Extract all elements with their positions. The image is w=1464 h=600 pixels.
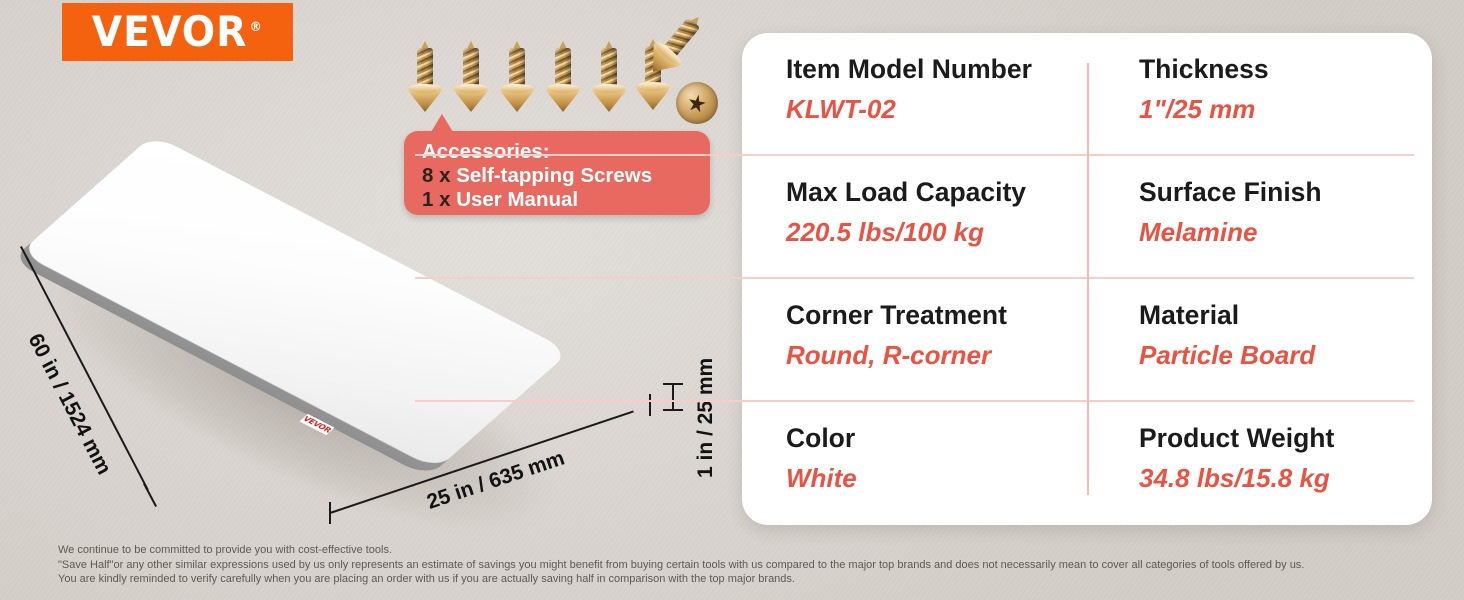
spec-label: Product Weight: [1139, 423, 1402, 454]
logo-wordmark: VEVOR®: [92, 11, 263, 53]
registered-trademark-icon: ®: [250, 20, 263, 35]
spec-label: Material: [1139, 300, 1402, 331]
spec-label: Corner Treatment: [786, 300, 1057, 331]
spec-cell-material: Material Particle Board: [1087, 279, 1432, 402]
dimension-label-thickness: 1 in / 25 mm: [694, 358, 718, 478]
spec-value: KLWT-02: [786, 94, 1057, 124]
infographic-canvas: VEVOR® Accessories: 8 x Self-tapping Scr…: [0, 0, 1464, 600]
screw-icon: [454, 48, 488, 120]
dimension-cap-width-right: [649, 394, 651, 416]
spec-label: Thickness: [1139, 54, 1402, 85]
spec-cell-surface-finish: Surface Finish Melamine: [1087, 156, 1432, 279]
dimension-cap-width-left: [329, 502, 331, 524]
spec-value: White: [786, 463, 1057, 493]
spec-value: 34.8 lbs/15.8 kg: [1139, 463, 1402, 493]
disclaimer-line-3: You are kindly reminded to verify carefu…: [58, 572, 1423, 587]
specification-table: Item Model Number KLWT-02 Thickness 1"/2…: [742, 33, 1432, 525]
screws-illustration: [408, 20, 708, 140]
footer-disclaimer: We continue to be committed to provide y…: [58, 543, 1423, 587]
callout-pointer-icon: [431, 114, 453, 132]
spec-value: Round, R-corner: [786, 340, 1057, 370]
spec-label: Surface Finish: [1139, 177, 1402, 208]
spec-cell-product-weight: Product Weight 34.8 lbs/15.8 kg: [1087, 402, 1432, 525]
spec-value: 1"/25 mm: [1139, 94, 1402, 124]
spec-cell-corner-treatment: Corner Treatment Round, R-corner: [742, 279, 1087, 402]
vevor-logo: VEVOR®: [62, 3, 293, 61]
spec-value: Particle Board: [1139, 340, 1402, 370]
screw-head-phillips-icon: [676, 82, 718, 124]
dimension-cap-thickness-top: [663, 383, 683, 385]
spec-label: Item Model Number: [786, 54, 1057, 85]
dimension-cap-thickness-bottom: [663, 409, 683, 411]
spec-cell-thickness: Thickness 1"/25 mm: [1087, 33, 1432, 156]
spec-value: 220.5 lbs/100 kg: [786, 217, 1057, 247]
spec-value: Melamine: [1139, 217, 1402, 247]
screw-icon: [592, 48, 626, 120]
screw-icon: [546, 48, 580, 120]
spec-label: Color: [786, 423, 1057, 454]
spec-cell-item-model-number: Item Model Number KLWT-02: [742, 33, 1087, 156]
spec-cell-color: Color White: [742, 402, 1087, 525]
screw-icon: [500, 48, 534, 120]
spec-cell-max-load-capacity: Max Load Capacity 220.5 lbs/100 kg: [742, 156, 1087, 279]
disclaimer-line-1: We continue to be committed to provide y…: [58, 543, 1423, 558]
disclaimer-line-2: "Save Half"or any other similar expressi…: [58, 558, 1423, 573]
screw-icon: [408, 48, 442, 120]
spec-label: Max Load Capacity: [786, 177, 1057, 208]
product-image: [0, 150, 700, 550]
dimension-line-thickness: [672, 384, 674, 410]
